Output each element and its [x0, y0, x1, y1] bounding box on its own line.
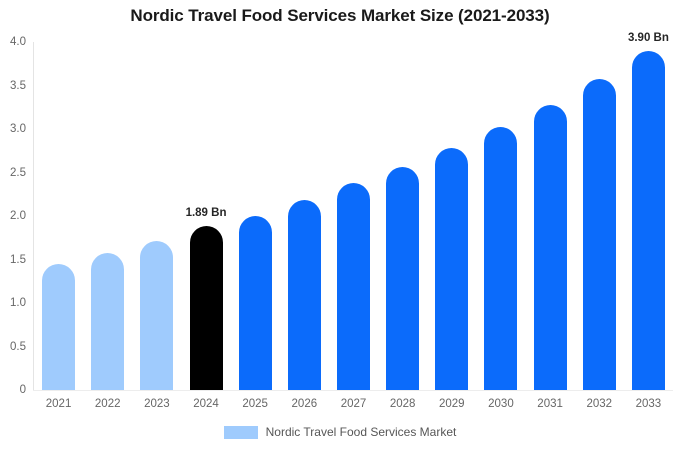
bar-2029[interactable]	[435, 148, 468, 390]
x-axis-tick-2027: 2027	[329, 398, 378, 410]
x-axis-tick-2024: 2024	[181, 398, 230, 410]
bar-value-label-2033: 3.90 Bn	[608, 32, 680, 44]
bar-2033[interactable]	[632, 51, 665, 390]
bar-2021[interactable]	[42, 264, 75, 390]
x-axis-tick-2028: 2028	[378, 398, 427, 410]
bar-2032[interactable]	[583, 79, 616, 390]
x-axis-tick-2023: 2023	[132, 398, 181, 410]
x-axis-tick-2022: 2022	[83, 398, 132, 410]
bar-2024[interactable]	[190, 226, 223, 390]
legend-swatch-icon	[224, 426, 258, 439]
x-axis-tick-2025: 2025	[231, 398, 280, 410]
x-axis-tick-2032: 2032	[575, 398, 624, 410]
x-axis-tick-2029: 2029	[427, 398, 476, 410]
bar-2025[interactable]	[239, 216, 272, 390]
bar-2026[interactable]	[288, 200, 321, 390]
bar-2028[interactable]	[386, 167, 419, 390]
x-axis-tick-2030: 2030	[476, 398, 525, 410]
bar-2023[interactable]	[140, 241, 173, 390]
bar-2022[interactable]	[91, 253, 124, 390]
x-axis-tick-2031: 2031	[526, 398, 575, 410]
x-axis-tick-2026: 2026	[280, 398, 329, 410]
bar-2027[interactable]	[337, 183, 370, 390]
chart-container: Nordic Travel Food Services Market Size …	[0, 0, 680, 450]
legend-label: Nordic Travel Food Services Market	[266, 425, 457, 439]
x-axis-tick-2033: 2033	[624, 398, 673, 410]
bar-2031[interactable]	[534, 105, 567, 390]
bar-2030[interactable]	[484, 127, 517, 390]
chart-legend: Nordic Travel Food Services Market	[0, 425, 680, 439]
bar-value-label-2024: 1.89 Bn	[166, 207, 246, 219]
bar-series-layer: 20212022202320241.89 Bn20252026202720282…	[0, 0, 680, 450]
x-axis-tick-2021: 2021	[34, 398, 83, 410]
